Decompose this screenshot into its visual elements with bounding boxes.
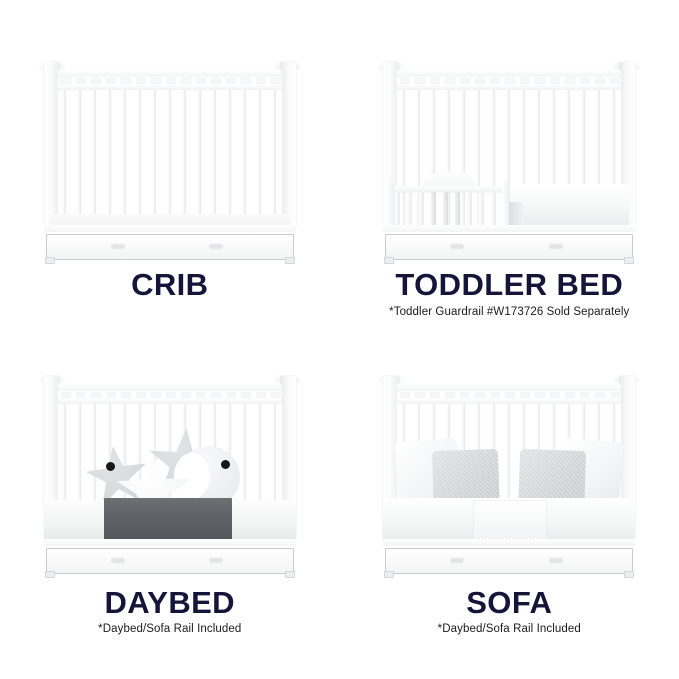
foot-left — [384, 257, 394, 264]
guardrail-post-right — [502, 182, 509, 227]
rail-gap — [211, 392, 221, 398]
slat — [136, 90, 141, 225]
rail-gap — [256, 78, 266, 84]
rail-gap — [445, 392, 455, 398]
guardrail-slat — [491, 192, 496, 227]
daybed-furniture — [30, 358, 310, 573]
rail-gap — [520, 392, 530, 398]
storage-drawer[interactable] — [46, 234, 294, 260]
rail-gap — [610, 78, 620, 84]
crib-furniture — [30, 44, 310, 259]
guardrail-slat — [455, 192, 460, 227]
panel-subtitle-toddler-bed: *Toddler Guardrail #W173726 Sold Separat… — [340, 306, 679, 318]
drawer-handle-left-icon — [111, 244, 125, 249]
rail-gap — [91, 392, 101, 398]
rail-gap — [121, 392, 131, 398]
top-rail — [397, 70, 621, 77]
rail-gap — [505, 392, 515, 398]
slat — [271, 90, 276, 225]
panel-title-sofa: SOFA — [340, 587, 679, 620]
rail-gap — [166, 78, 176, 84]
rail-gap — [595, 392, 605, 398]
storage-drawer-area — [383, 546, 635, 575]
rail-gap-row — [397, 391, 621, 399]
rail-gap — [490, 78, 500, 84]
rail-gap — [256, 392, 266, 398]
guardrail-slats — [387, 192, 509, 227]
sofa-furniture — [369, 358, 649, 573]
sofa-labels: SOFA *Daybed/Sofa Rail Included — [340, 573, 679, 636]
guardrail-slat — [407, 192, 412, 227]
rail-gap — [430, 392, 440, 398]
slat — [181, 90, 186, 225]
panel-crib: CRIB — [0, 0, 340, 340]
slat — [196, 90, 201, 225]
slat — [106, 90, 111, 225]
panel-title-daybed: DAYBED — [0, 587, 340, 620]
fringed-throw-blanket — [473, 500, 547, 542]
guardrail-slat — [419, 192, 424, 227]
rail-gap — [460, 392, 470, 398]
rail-gap — [241, 392, 251, 398]
product-configuration-grid: CRIB — [0, 0, 679, 679]
rail-gap — [241, 78, 251, 84]
foot-left — [45, 257, 55, 264]
moon-cutout — [174, 453, 210, 499]
foot-right — [624, 571, 634, 578]
panel-subtitle-daybed: *Daybed/Sofa Rail Included — [0, 623, 340, 635]
rail-gap — [580, 392, 590, 398]
storage-drawer[interactable] — [385, 234, 633, 260]
foot-right — [624, 257, 634, 264]
rail-gap — [271, 392, 281, 398]
guardrail-slat — [395, 192, 400, 227]
toddler-bed-illustration — [369, 44, 649, 259]
slat — [76, 90, 81, 225]
rail-gap — [565, 392, 575, 398]
foot-right — [285, 257, 295, 264]
star-eye-icon — [106, 462, 115, 471]
storage-drawer-area — [44, 546, 296, 575]
rail-gap — [106, 78, 116, 84]
foot-left — [384, 571, 394, 578]
rail-gap — [136, 392, 146, 398]
guardrail-post-left — [387, 182, 394, 227]
rail-gap — [595, 78, 605, 84]
rail-gap — [151, 78, 161, 84]
panel-subtitle-sofa: *Daybed/Sofa Rail Included — [340, 623, 679, 635]
rail-gap — [415, 78, 425, 84]
rail-gap — [76, 392, 86, 398]
slat — [61, 90, 66, 225]
rail-gap-row — [58, 391, 282, 399]
daybed-gray-runner — [104, 498, 232, 542]
rail-gap — [226, 78, 236, 84]
rail-gap — [151, 392, 161, 398]
rail-gap — [76, 78, 86, 84]
rail-gap — [226, 392, 236, 398]
rail-gap — [400, 78, 410, 84]
rail-gap — [400, 392, 410, 398]
rail-gap — [181, 392, 191, 398]
rail-gap — [460, 78, 470, 84]
toddler-bed-furniture — [369, 44, 649, 259]
rail-gap — [196, 78, 206, 84]
rail-gap — [490, 392, 500, 398]
rail-gap — [61, 78, 71, 84]
rail-gap — [610, 392, 620, 398]
toddler-guardrail — [387, 172, 509, 227]
rail-gap — [271, 78, 281, 84]
rail-gap — [535, 78, 545, 84]
sofa-illustration — [369, 358, 649, 573]
rail-gap — [136, 78, 146, 84]
rail-gap — [550, 392, 560, 398]
storage-drawer[interactable] — [46, 548, 294, 574]
rail-gap — [535, 392, 545, 398]
foot-right — [285, 571, 295, 578]
rail-gap — [430, 78, 440, 84]
drawer-handle-left-icon — [450, 558, 464, 563]
drawer-handle-right-icon — [209, 244, 223, 249]
slat — [241, 90, 246, 225]
rail-gap — [505, 78, 515, 84]
moon-eye-icon — [221, 460, 230, 469]
storage-drawer-area — [44, 232, 296, 261]
rail-gap — [520, 78, 530, 84]
rail-gap — [106, 392, 116, 398]
slat — [226, 90, 231, 225]
drawer-handle-left-icon — [111, 558, 125, 563]
panel-title-crib: CRIB — [0, 269, 340, 302]
rail-gap — [445, 78, 455, 84]
rail-gap — [121, 78, 131, 84]
rail-gap — [211, 78, 221, 84]
rail-gap — [91, 78, 101, 84]
drawer-handle-right-icon — [209, 558, 223, 563]
slat — [151, 90, 156, 225]
foot-left — [45, 571, 55, 578]
guardrail-slat — [467, 192, 472, 227]
guardrail-slat — [443, 192, 448, 227]
daybed-labels: DAYBED *Daybed/Sofa Rail Included — [0, 573, 340, 636]
rail-gap — [166, 392, 176, 398]
panel-toddler-bed: TODDLER BED *Toddler Guardrail #W173726 … — [340, 0, 679, 340]
panel-sofa: SOFA *Daybed/Sofa Rail Included — [340, 340, 679, 679]
rail-gap — [415, 392, 425, 398]
storage-drawer[interactable] — [385, 548, 633, 574]
slat — [91, 90, 96, 225]
panel-title-toddler-bed: TODDLER BED — [340, 269, 679, 302]
rail-gap — [196, 392, 206, 398]
rail-gap — [181, 78, 191, 84]
rail-gap — [475, 78, 485, 84]
rail-gap — [565, 78, 575, 84]
slat — [166, 90, 171, 225]
toddler-bed-labels: TODDLER BED *Toddler Guardrail #W173726 … — [340, 259, 679, 318]
rail-gap-row — [58, 77, 282, 85]
slat — [211, 90, 216, 225]
daybed-illustration — [30, 358, 310, 573]
slatted-panel — [58, 90, 282, 225]
drawer-handle-right-icon — [549, 244, 563, 249]
rail-gap — [61, 392, 71, 398]
top-rail — [397, 384, 621, 391]
corner-post-right — [280, 62, 296, 225]
slat — [256, 90, 261, 225]
guardrail-slat — [479, 192, 484, 227]
drawer-handle-left-icon — [450, 244, 464, 249]
slat — [121, 90, 126, 225]
guardrail-slat — [431, 192, 436, 227]
rail-gap — [580, 78, 590, 84]
storage-drawer-area — [383, 232, 635, 261]
top-rail — [58, 70, 282, 77]
crib-illustration — [30, 44, 310, 259]
panel-daybed: DAYBED *Daybed/Sofa Rail Included — [0, 340, 340, 679]
rail-gap — [550, 78, 560, 84]
crib-labels: CRIB — [0, 259, 340, 306]
rail-gap — [475, 392, 485, 398]
top-rail — [58, 384, 282, 391]
rail-gap-row — [397, 77, 621, 85]
drawer-handle-right-icon — [549, 558, 563, 563]
